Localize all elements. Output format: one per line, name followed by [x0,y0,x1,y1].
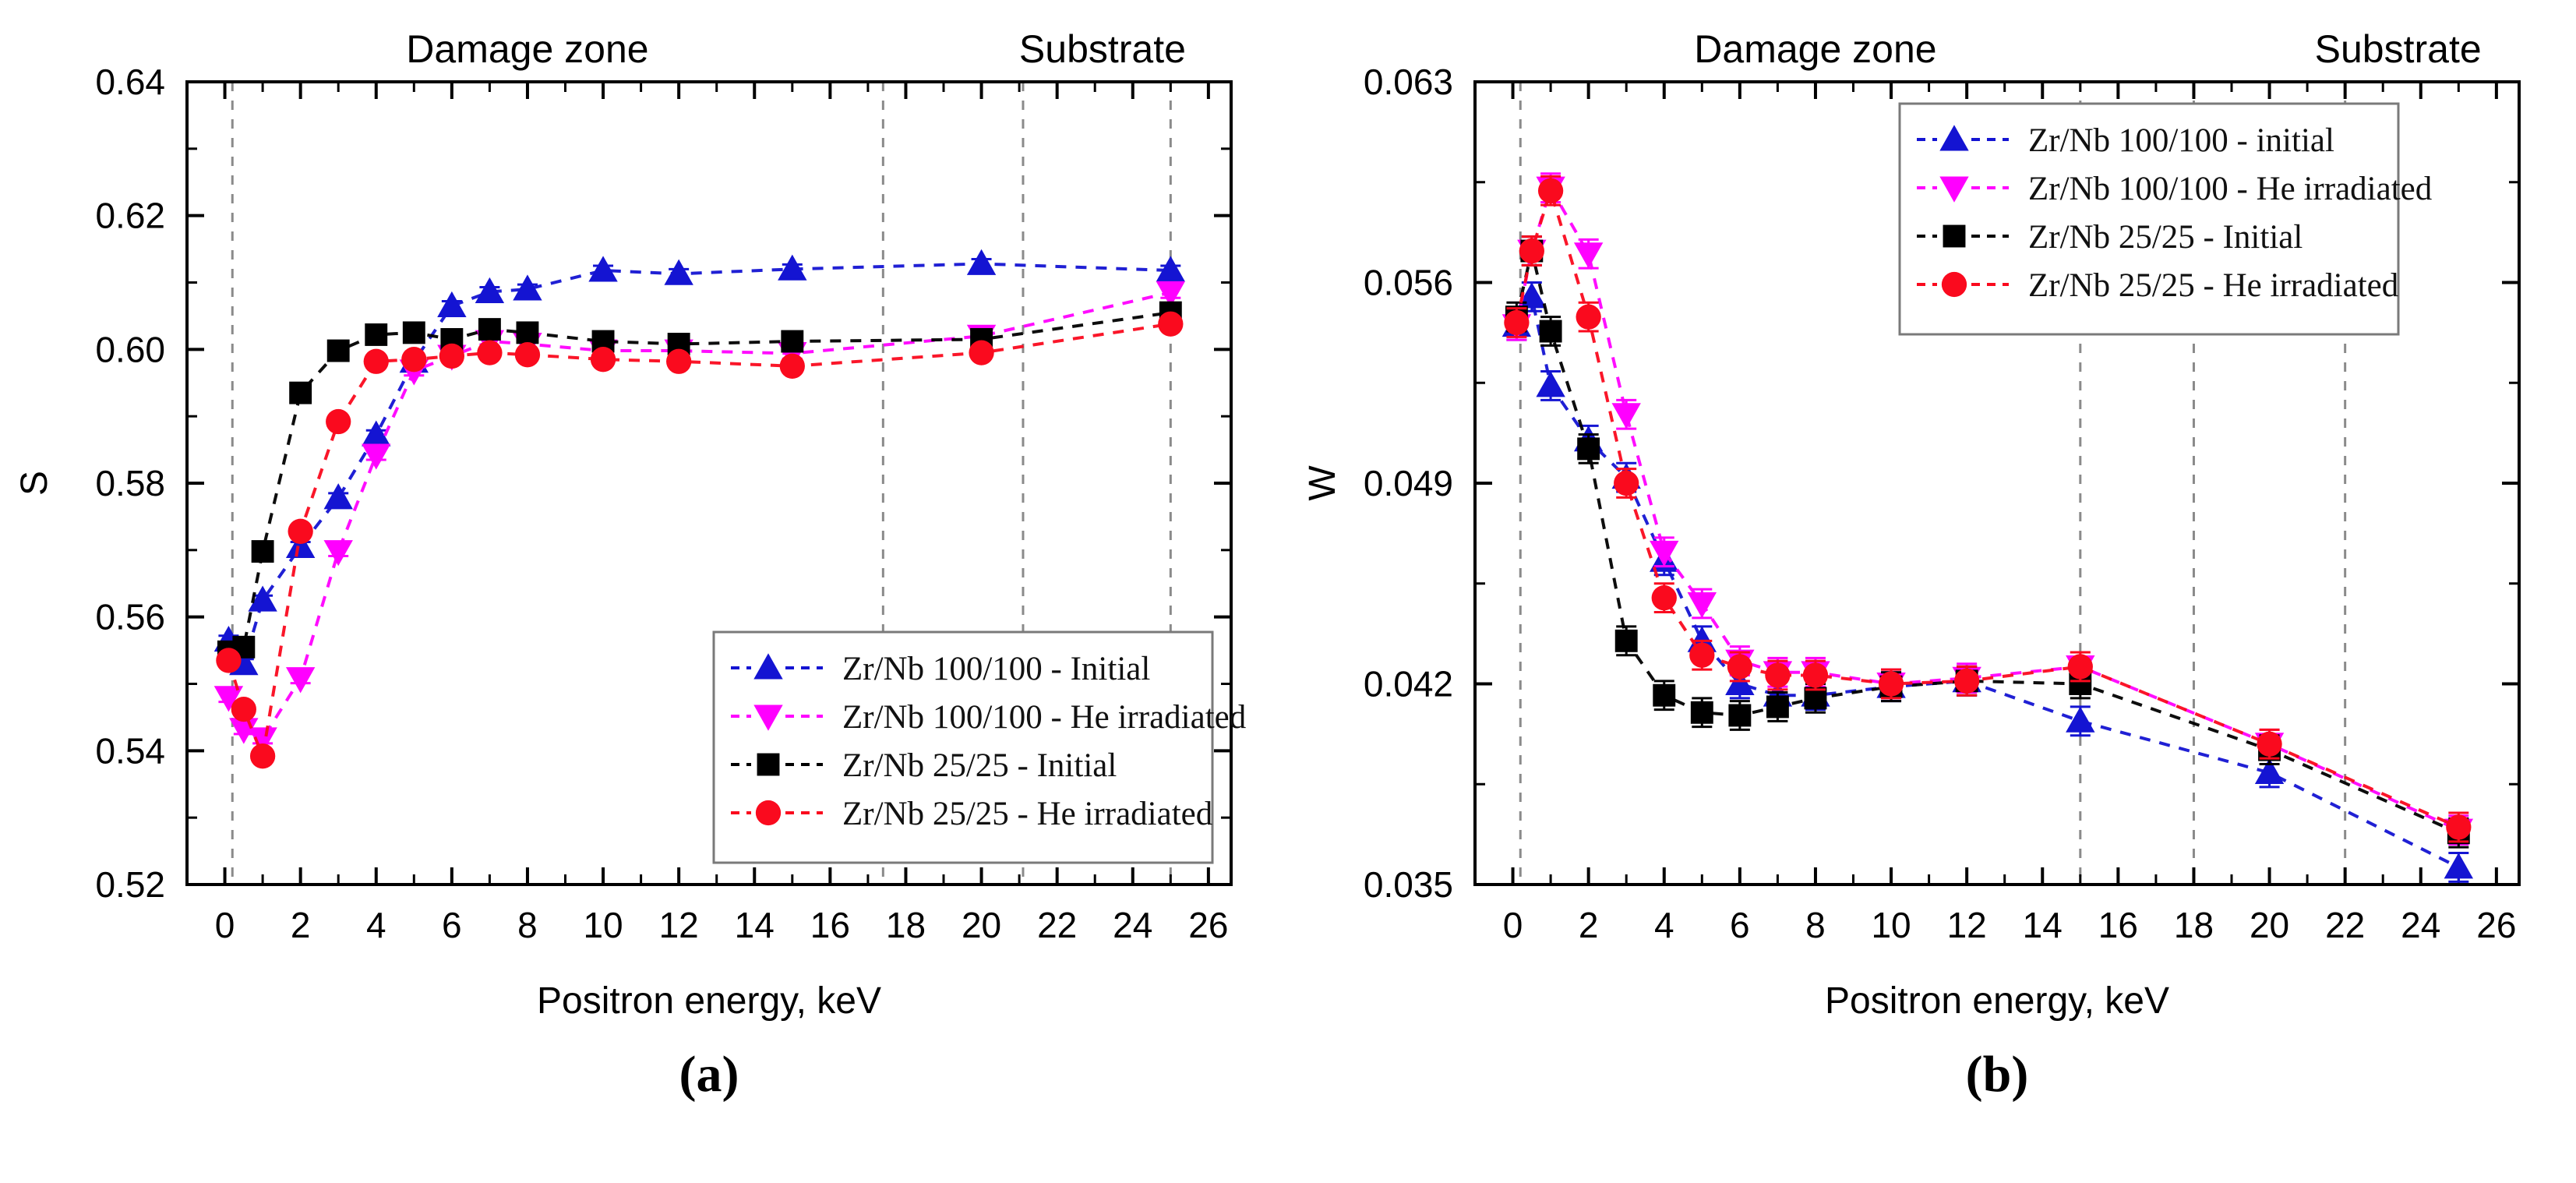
marker-circle [2257,732,2281,757]
chart-svg-b[interactable]: Damage zoneSubstrate02468101214161820222… [1288,0,2576,1183]
x-tick-label: 0 [1503,905,1523,945]
marker-square [478,318,501,341]
marker-square [1728,705,1751,727]
marker-triangle-up [437,291,466,317]
x-tick-label: 0 [215,905,235,945]
x-tick-label: 8 [517,905,538,945]
marker-circle [216,648,241,673]
x-tick-label: 18 [2174,905,2214,945]
zone-label-substrate: Substrate [1019,27,1186,71]
marker-triangle-up [967,249,996,275]
marker-square [517,321,539,344]
x-tick-label: 14 [2023,905,2063,945]
marker-circle [1689,643,1714,668]
marker-triangle-down [1688,592,1717,618]
marker-triangle-down [1612,403,1641,429]
x-tick-label: 22 [1037,905,1077,945]
y-tick-label: 0.049 [1364,463,1453,503]
marker-square [1577,437,1600,460]
marker-circle [2068,654,2093,679]
marker-square [1766,695,1789,718]
marker-circle [780,354,805,379]
panel-letter: (a) [679,1046,739,1103]
marker-square [1691,701,1713,724]
x-tick-label: 2 [1579,905,1599,945]
plot-area: Damage zoneSubstrate02468101214161820222… [1302,27,2519,1103]
marker-circle [666,349,691,374]
marker-square [1653,684,1675,707]
chart-svg-a[interactable]: Damage zoneSubstrate02468101214161820222… [0,0,1288,1183]
y-tick-label: 0.042 [1364,664,1453,705]
x-tick-label: 16 [2098,905,2138,945]
marker-triangle-up [664,260,693,285]
y-axis-title: S [14,471,55,496]
marker-circle [250,743,275,768]
marker-triangle-up [324,483,353,509]
x-tick-label: 12 [1947,905,1987,945]
y-tick-label: 0.035 [1364,864,1453,905]
legend-entry-label: Zr/Nb 25/25 - Initial [842,747,1117,784]
marker-square [757,754,780,776]
x-tick-label: 6 [1730,905,1750,945]
legend-entry-label: Zr/Nb 25/25 - Initial [2028,219,2303,256]
series-group [214,249,1185,675]
marker-circle [231,697,256,722]
marker-circle [401,347,426,372]
legend[interactable]: Zr/Nb 100/100 - InitialZr/Nb 100/100 - H… [714,632,1246,863]
legend-entry-label: Zr/Nb 100/100 - He irradiated [2028,171,2432,207]
marker-triangle-down [362,444,390,470]
figure-container: Damage zoneSubstrate02468101214161820222… [0,0,2576,1183]
chart-panel-b: Damage zoneSubstrate02468101214161820222… [1288,0,2576,1183]
legend-entry-label: Zr/Nb 100/100 - Initial [842,651,1150,687]
marker-circle [969,340,993,365]
y-tick-label: 0.58 [95,463,165,503]
x-tick-label: 22 [2325,905,2365,945]
x-tick-label: 26 [2476,905,2516,945]
x-tick-label: 20 [2250,905,2289,945]
marker-square [1540,320,1562,343]
marker-circle [1803,662,1828,687]
marker-square [403,321,425,344]
x-tick-label: 2 [291,905,311,945]
legend-entry-label: Zr/Nb 25/25 - He irradiated [2028,267,2398,304]
marker-circle [1727,654,1752,679]
legend-entry-label: Zr/Nb 25/25 - He irradiated [842,796,1212,832]
marker-circle [1538,178,1563,203]
marker-circle [1652,585,1677,610]
y-tick-label: 0.56 [95,597,165,637]
marker-circle [1504,310,1529,335]
plot-area: Damage zoneSubstrate02468101214161820222… [14,27,1246,1103]
legend-entry-label: Zr/Nb 100/100 - initial [2028,122,2334,159]
x-tick-label: 10 [1871,905,1911,945]
x-tick-label: 12 [659,905,699,945]
marker-circle [1879,671,1904,696]
marker-circle [591,347,616,372]
zone-label-substrate: Substrate [2315,27,2482,71]
marker-triangle-down [1650,541,1678,567]
marker-circle [439,344,464,369]
marker-circle [756,800,781,825]
series-group [1502,282,2473,881]
marker-triangle-up [588,256,617,281]
x-tick-label: 4 [366,905,386,945]
legend[interactable]: Zr/Nb 100/100 - initialZr/Nb 100/100 - H… [1900,104,2432,334]
y-tick-label: 0.52 [95,864,165,905]
x-tick-label: 4 [1654,905,1674,945]
marker-square [781,330,803,353]
marker-triangle-down [1574,242,1603,268]
y-axis-title: W [1302,465,1343,501]
marker-circle [288,519,313,544]
marker-triangle-up [2066,707,2094,733]
marker-square [252,540,274,563]
marker-square [365,323,387,346]
marker-triangle-up [2444,853,2473,878]
y-tick-label: 0.62 [95,196,165,236]
x-tick-label: 26 [1188,905,1228,945]
y-tick-label: 0.056 [1364,263,1453,303]
marker-square [289,382,312,404]
marker-square [1943,225,1966,248]
marker-circle [2446,814,2471,839]
marker-triangle-up [1536,371,1565,397]
marker-triangle-down [324,540,353,566]
chart-panel-a: Damage zoneSubstrate02468101214161820222… [0,0,1288,1183]
x-tick-label: 10 [583,905,623,945]
marker-triangle-down [286,667,315,693]
x-tick-label: 16 [810,905,850,945]
x-tick-label: 20 [962,905,1001,945]
x-tick-label: 6 [442,905,462,945]
marker-circle [364,349,389,374]
marker-circle [1765,662,1790,687]
x-tick-label: 24 [2401,905,2440,945]
marker-square [327,340,350,362]
zone-label-damage-zone: Damage zone [1694,27,1936,71]
x-tick-label: 8 [1805,905,1826,945]
marker-circle [515,342,540,367]
x-axis-title: Positron energy, keV [537,980,881,1022]
marker-circle [1614,471,1639,496]
x-tick-label: 18 [886,905,926,945]
legend-entry-label: Zr/Nb 100/100 - He irradiated [842,699,1246,736]
x-tick-label: 24 [1113,905,1152,945]
y-tick-label: 0.063 [1364,62,1453,102]
series-line [1516,297,2458,867]
series-group [217,302,1182,663]
y-tick-label: 0.54 [95,730,165,771]
marker-circle [1576,304,1601,329]
x-axis-title: Positron energy, keV [1825,980,2169,1022]
marker-circle [477,340,502,365]
panel-letter: (b) [1966,1046,2029,1103]
zone-label-damage-zone: Damage zone [406,27,648,71]
marker-circle [1519,238,1544,263]
y-tick-label: 0.64 [95,62,165,102]
marker-circle [1942,272,1967,297]
marker-square [1615,630,1638,652]
marker-circle [1954,669,1979,694]
x-tick-label: 14 [735,905,775,945]
marker-circle [326,409,351,434]
y-tick-label: 0.60 [95,329,165,369]
marker-circle [1158,312,1183,337]
